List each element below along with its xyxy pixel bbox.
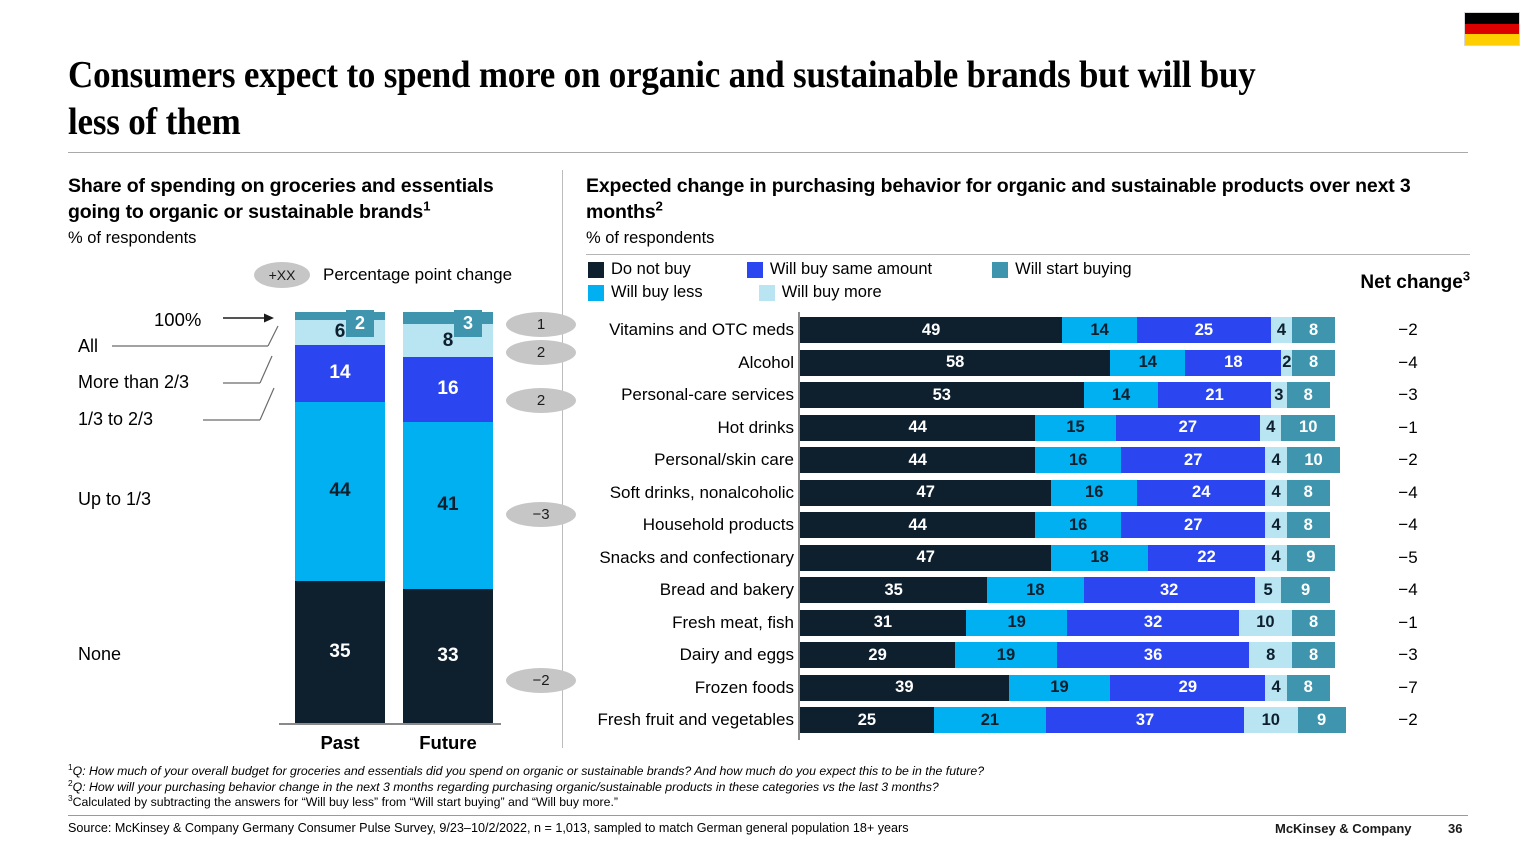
row-label-snacks-and-confectionary: Snacks and confectionary bbox=[586, 542, 794, 575]
segment-snacks-and-confectionary-will-start-buying[interactable]: 9 bbox=[1287, 545, 1335, 571]
chart-legend: Do not buyWill buy same amountWill start… bbox=[588, 260, 1288, 306]
left-category-label-up-to-1-3: Up to 1/3 bbox=[78, 489, 151, 510]
change-pill-0: 1 bbox=[506, 312, 576, 337]
segment-fresh-meat-fish-will-buy-less[interactable]: 19 bbox=[966, 610, 1068, 636]
net-change-value-household-products: −4 bbox=[1346, 509, 1470, 542]
right-heading-superscript: 2 bbox=[656, 198, 663, 213]
footnote-3: 3Calculated by subtracting the answers f… bbox=[68, 795, 1468, 811]
legend-label: Will start buying bbox=[1015, 260, 1131, 279]
segment-personal-skin-care-do-not-buy[interactable]: 44 bbox=[800, 447, 1035, 473]
segment-snacks-and-confectionary-do-not-buy[interactable]: 47 bbox=[800, 545, 1051, 571]
row-bar-vitamins-and-otc-meds: 49142548 bbox=[800, 317, 1335, 343]
row-bar-soft-drinks-nonalcoholic: 47162448 bbox=[800, 480, 1330, 506]
segment-bread-and-bakery-will-buy-more[interactable]: 5 bbox=[1255, 577, 1282, 603]
table-row[interactable]: Personal-care services53142138−3 bbox=[586, 379, 1476, 412]
segment-vitamins-and-otc-meds-do-not-buy[interactable]: 49 bbox=[800, 317, 1062, 343]
segment-vitamins-and-otc-meds-will-start-buying[interactable]: 8 bbox=[1292, 317, 1335, 343]
legend-divider bbox=[586, 254, 1470, 255]
legend-item-will-buy-same-amount[interactable]: Will buy same amount bbox=[747, 260, 932, 279]
right-panel-heading: Expected change in purchasing behavior f… bbox=[586, 174, 1476, 225]
segment-fresh-meat-fish-do-not-buy[interactable]: 31 bbox=[800, 610, 966, 636]
footnote-text: Q: How will your purchasing behavior cha… bbox=[73, 780, 939, 794]
footnotes: 1Q: How much of your overall budget for … bbox=[68, 764, 1468, 811]
net-change-value-soft-drinks-nonalcoholic: −4 bbox=[1346, 477, 1470, 510]
segment-household-products-do-not-buy[interactable]: 44 bbox=[800, 512, 1035, 538]
segment-fresh-meat-fish-will-buy-same-amount[interactable]: 32 bbox=[1067, 610, 1238, 636]
right-chart-rows: Vitamins and OTC meds49142548−2Alcohol58… bbox=[586, 314, 1476, 737]
legend-swatch-icon bbox=[759, 285, 775, 301]
segment-personal-care-services-will-buy-less[interactable]: 14 bbox=[1084, 382, 1159, 408]
net-change-value-dairy-and-eggs: −3 bbox=[1346, 639, 1470, 672]
left-chart-axis bbox=[279, 723, 501, 725]
table-row[interactable]: Soft drinks, nonalcoholic47162448−4 bbox=[586, 477, 1476, 510]
pct-key-label: Percentage point change bbox=[323, 265, 512, 285]
page-number: 36 bbox=[1448, 821, 1462, 836]
change-pill-4: −2 bbox=[506, 668, 576, 693]
net-change-text: Net change bbox=[1360, 272, 1462, 293]
segment-frozen-foods-will-buy-same-amount[interactable]: 29 bbox=[1110, 675, 1265, 701]
left-panel: Share of spending on groceries and essen… bbox=[68, 174, 548, 248]
segment-vitamins-and-otc-meds-will-buy-same-amount[interactable]: 25 bbox=[1137, 317, 1271, 343]
segment-frozen-foods-will-buy-less[interactable]: 19 bbox=[1009, 675, 1111, 701]
row-bar-bread-and-bakery: 35183259 bbox=[800, 577, 1330, 603]
segment-hot-drinks-will-start-buying[interactable]: 10 bbox=[1281, 415, 1335, 441]
left-x-label-past: Past bbox=[295, 732, 385, 754]
segment-fresh-meat-fish-will-start-buying[interactable]: 8 bbox=[1292, 610, 1335, 636]
segment-dairy-and-eggs-do-not-buy[interactable]: 29 bbox=[800, 642, 955, 668]
segment-hot-drinks-do-not-buy[interactable]: 44 bbox=[800, 415, 1035, 441]
right-panel: Expected change in purchasing behavior f… bbox=[586, 174, 1476, 248]
left-category-label-none: None bbox=[78, 644, 121, 665]
row-bar-snacks-and-confectionary: 47182249 bbox=[800, 545, 1335, 571]
segment-snacks-and-confectionary-will-buy-same-amount[interactable]: 22 bbox=[1148, 545, 1266, 571]
segment-hot-drinks-will-buy-same-amount[interactable]: 27 bbox=[1116, 415, 1260, 441]
row-label-alcohol: Alcohol bbox=[586, 347, 794, 380]
segment-frozen-foods-will-buy-more[interactable]: 4 bbox=[1265, 675, 1286, 701]
legend-swatch-icon bbox=[588, 285, 604, 301]
row-label-fresh-fruit-and-vegetables: Fresh fruit and vegetables bbox=[586, 704, 794, 737]
left-panel-heading: Share of spending on groceries and essen… bbox=[68, 174, 548, 225]
legend-swatch-icon bbox=[588, 262, 604, 278]
net-change-header: Net change3 bbox=[1286, 272, 1470, 294]
footnote-text: Calculated by subtracting the answers fo… bbox=[73, 795, 618, 809]
segment-fresh-fruit-and-vegetables-will-buy-same-amount[interactable]: 37 bbox=[1046, 707, 1244, 733]
segment-soft-drinks-nonalcoholic-will-buy-same-amount[interactable]: 24 bbox=[1137, 480, 1265, 506]
segment-hot-drinks-will-buy-more[interactable]: 4 bbox=[1260, 415, 1281, 441]
segment-personal-care-services-will-buy-more[interactable]: 3 bbox=[1271, 382, 1287, 408]
table-row[interactable]: Dairy and eggs29193688−3 bbox=[586, 639, 1476, 672]
axis-note-100-percent: 100% bbox=[154, 309, 201, 331]
german-flag-icon bbox=[1464, 12, 1520, 46]
net-change-value-alcohol: −4 bbox=[1346, 347, 1470, 380]
row-label-fresh-meat-fish: Fresh meat, fish bbox=[586, 607, 794, 640]
left-heading-superscript: 1 bbox=[423, 198, 430, 213]
footnote-2: 2Q: How will your purchasing behavior ch… bbox=[68, 780, 1468, 796]
legend-swatch-icon bbox=[992, 262, 1008, 278]
legend-row-1: Will buy lessWill buy more bbox=[588, 283, 1288, 302]
segment-personal-care-services-do-not-buy[interactable]: 53 bbox=[800, 382, 1084, 408]
segment-bread-and-bakery-do-not-buy[interactable]: 35 bbox=[800, 577, 987, 603]
row-bar-frozen-foods: 39192948 bbox=[800, 675, 1330, 701]
segment-vitamins-and-otc-meds-will-buy-less[interactable]: 14 bbox=[1062, 317, 1137, 343]
left-x-label-future: Future bbox=[403, 732, 493, 754]
segment-alcohol-will-buy-more[interactable]: 2 bbox=[1281, 350, 1292, 376]
segment-bread-and-bakery-will-buy-same-amount[interactable]: 32 bbox=[1084, 577, 1255, 603]
footnote-text: Q: How much of your overall budget for g… bbox=[73, 764, 984, 778]
row-label-soft-drinks-nonalcoholic: Soft drinks, nonalcoholic bbox=[586, 477, 794, 510]
row-label-bread-and-bakery: Bread and bakery bbox=[586, 574, 794, 607]
net-change-value-hot-drinks: −1 bbox=[1346, 412, 1470, 445]
segment-vitamins-and-otc-meds-will-buy-more[interactable]: 4 bbox=[1271, 317, 1292, 343]
segment-alcohol-do-not-buy[interactable]: 58 bbox=[800, 350, 1110, 376]
net-change-value-personal-care-services: −3 bbox=[1346, 379, 1470, 412]
row-bar-alcohol: 58141828 bbox=[800, 350, 1335, 376]
segment-alcohol-will-buy-less[interactable]: 14 bbox=[1110, 350, 1185, 376]
left-segment-future-up-to-1-3[interactable]: 41 bbox=[403, 422, 493, 589]
legend-item-do-not-buy[interactable]: Do not buy bbox=[588, 260, 691, 279]
segment-personal-care-services-will-start-buying[interactable]: 8 bbox=[1287, 382, 1330, 408]
net-change-value-fresh-meat-fish: −1 bbox=[1346, 607, 1470, 640]
row-bar-personal-care-services: 53142138 bbox=[800, 382, 1330, 408]
left-bar-future[interactable]: 3341168 bbox=[403, 312, 493, 723]
segment-personal-skin-care-will-buy-less[interactable]: 16 bbox=[1035, 447, 1121, 473]
segment-fresh-fruit-and-vegetables-will-start-buying[interactable]: 9 bbox=[1298, 707, 1346, 733]
left-category-label-more-than-2-3: More than 2/3 bbox=[78, 372, 189, 393]
change-pill-1: 2 bbox=[506, 340, 576, 365]
left-stacked-bar-chart: 100% All More than 2/3 1/3 to 2/3 Up to … bbox=[68, 304, 548, 764]
segment-soft-drinks-nonalcoholic-will-start-buying[interactable]: 8 bbox=[1287, 480, 1330, 506]
segment-dairy-and-eggs-will-start-buying[interactable]: 8 bbox=[1292, 642, 1335, 668]
row-bar-fresh-fruit-and-vegetables: 252137109 bbox=[800, 707, 1346, 733]
row-label-vitamins-and-otc-meds: Vitamins and OTC meds bbox=[586, 314, 794, 347]
table-row[interactable]: Fresh meat, fish311932108−1 bbox=[586, 607, 1476, 640]
left-segment-past-up-to-1-3[interactable]: 44 bbox=[295, 402, 385, 581]
title-divider bbox=[68, 152, 1468, 153]
row-bar-fresh-meat-fish: 311932108 bbox=[800, 610, 1335, 636]
net-change-value-snacks-and-confectionary: −5 bbox=[1346, 542, 1470, 575]
row-label-dairy-and-eggs: Dairy and eggs bbox=[586, 639, 794, 672]
footer-divider bbox=[68, 815, 1468, 816]
flag-band-red bbox=[1465, 24, 1519, 35]
left-segment-future-none[interactable]: 33 bbox=[403, 589, 493, 723]
row-label-personal-care-services: Personal-care services bbox=[586, 379, 794, 412]
segment-dairy-and-eggs-will-buy-more[interactable]: 8 bbox=[1249, 642, 1292, 668]
legend-item-will-buy-more[interactable]: Will buy more bbox=[759, 283, 882, 302]
change-pill-3: −3 bbox=[506, 502, 576, 527]
row-bar-dairy-and-eggs: 29193688 bbox=[800, 642, 1335, 668]
net-change-value-fresh-fruit-and-vegetables: −2 bbox=[1346, 704, 1470, 737]
change-pill-2: 2 bbox=[506, 388, 576, 413]
table-row[interactable]: Alcohol58141828−4 bbox=[586, 347, 1476, 380]
segment-fresh-fruit-and-vegetables-will-buy-less[interactable]: 21 bbox=[934, 707, 1046, 733]
panel-divider bbox=[562, 170, 563, 748]
segment-household-products-will-buy-same-amount[interactable]: 27 bbox=[1121, 512, 1265, 538]
left-panel-subheading: % of respondents bbox=[68, 228, 548, 248]
segment-soft-drinks-nonalcoholic-do-not-buy[interactable]: 47 bbox=[800, 480, 1051, 506]
left-bar-past[interactable]: 3544146 bbox=[295, 312, 385, 723]
row-bar-personal-skin-care: 441627410 bbox=[800, 447, 1340, 473]
segment-dairy-and-eggs-will-buy-less[interactable]: 19 bbox=[955, 642, 1057, 668]
net-change-value-bread-and-bakery: −4 bbox=[1346, 574, 1470, 607]
leader-lines bbox=[68, 304, 328, 504]
table-row[interactable]: Household products44162748−4 bbox=[586, 509, 1476, 542]
net-change-value-personal-skin-care: −2 bbox=[1346, 444, 1470, 477]
footnote-1: 1Q: How much of your overall budget for … bbox=[68, 764, 1468, 780]
segment-fresh-fruit-and-vegetables-will-buy-more[interactable]: 10 bbox=[1244, 707, 1298, 733]
segment-hot-drinks-will-buy-less[interactable]: 15 bbox=[1035, 415, 1115, 441]
pct-key-pill: +XX bbox=[254, 262, 310, 288]
left-callout-past-all: 2 bbox=[346, 310, 374, 337]
left-segment-past-none[interactable]: 35 bbox=[295, 581, 385, 723]
segment-personal-care-services-will-buy-same-amount[interactable]: 21 bbox=[1158, 382, 1270, 408]
table-row[interactable]: Bread and bakery35183259−4 bbox=[586, 574, 1476, 607]
legend-label: Will buy more bbox=[782, 283, 882, 302]
left-category-label-1-3-to-2-3: 1/3 to 2/3 bbox=[78, 409, 153, 430]
segment-household-products-will-start-buying[interactable]: 8 bbox=[1287, 512, 1330, 538]
right-heading-text: Expected change in purchasing behavior f… bbox=[586, 175, 1411, 223]
brand-label: McKinsey & Company bbox=[1275, 821, 1412, 836]
segment-personal-skin-care-will-buy-same-amount[interactable]: 27 bbox=[1121, 447, 1265, 473]
segment-snacks-and-confectionary-will-buy-less[interactable]: 18 bbox=[1051, 545, 1147, 571]
segment-fresh-meat-fish-will-buy-more[interactable]: 10 bbox=[1239, 610, 1293, 636]
table-row[interactable]: Frozen foods39192948−7 bbox=[586, 672, 1476, 705]
segment-personal-skin-care-will-buy-more[interactable]: 4 bbox=[1265, 447, 1286, 473]
table-row[interactable]: Snacks and confectionary47182249−5 bbox=[586, 542, 1476, 575]
segment-dairy-and-eggs-will-buy-same-amount[interactable]: 36 bbox=[1057, 642, 1250, 668]
segment-household-products-will-buy-less[interactable]: 16 bbox=[1035, 512, 1121, 538]
left-segment-past-1-3-to-2-3[interactable]: 14 bbox=[295, 345, 385, 402]
segment-bread-and-bakery-will-start-buying[interactable]: 9 bbox=[1281, 577, 1329, 603]
segment-household-products-will-buy-more[interactable]: 4 bbox=[1265, 512, 1286, 538]
slide-root: Consumers expect to spend more on organi… bbox=[0, 0, 1536, 864]
segment-soft-drinks-nonalcoholic-will-buy-less[interactable]: 16 bbox=[1051, 480, 1137, 506]
net-change-value-vitamins-and-otc-meds: −2 bbox=[1346, 314, 1470, 347]
percentage-point-change-key: +XX Percentage point change bbox=[254, 262, 512, 288]
row-label-hot-drinks: Hot drinks bbox=[586, 412, 794, 445]
source-line: Source: McKinsey & Company Germany Consu… bbox=[68, 821, 909, 835]
row-label-personal-skin-care: Personal/skin care bbox=[586, 444, 794, 477]
table-row[interactable]: Hot drinks441527410−1 bbox=[586, 412, 1476, 445]
flag-band-black bbox=[1465, 13, 1519, 24]
legend-label: Will buy less bbox=[611, 283, 703, 302]
segment-soft-drinks-nonalcoholic-will-buy-more[interactable]: 4 bbox=[1265, 480, 1286, 506]
table-row[interactable]: Vitamins and OTC meds49142548−2 bbox=[586, 314, 1476, 347]
legend-row-0: Do not buyWill buy same amountWill start… bbox=[588, 260, 1288, 279]
table-row[interactable]: Personal/skin care441627410−2 bbox=[586, 444, 1476, 477]
net-change-superscript: 3 bbox=[1463, 269, 1470, 284]
flag-band-gold bbox=[1465, 34, 1519, 45]
legend-item-will-buy-less[interactable]: Will buy less bbox=[588, 283, 703, 302]
slide-title: Consumers expect to spend more on organi… bbox=[68, 52, 1292, 146]
left-callout-future-all: 3 bbox=[454, 310, 482, 337]
table-row[interactable]: Fresh fruit and vegetables252137109−2 bbox=[586, 704, 1476, 737]
right-panel-subheading: % of respondents bbox=[586, 228, 1476, 248]
segment-frozen-foods-do-not-buy[interactable]: 39 bbox=[800, 675, 1009, 701]
left-segment-future-1-3-to-2-3[interactable]: 16 bbox=[403, 357, 493, 422]
segment-frozen-foods-will-start-buying[interactable]: 8 bbox=[1287, 675, 1330, 701]
segment-alcohol-will-start-buying[interactable]: 8 bbox=[1292, 350, 1335, 376]
legend-swatch-icon bbox=[747, 262, 763, 278]
row-bar-hot-drinks: 441527410 bbox=[800, 415, 1335, 441]
segment-fresh-fruit-and-vegetables-do-not-buy[interactable]: 25 bbox=[800, 707, 934, 733]
row-label-frozen-foods: Frozen foods bbox=[586, 672, 794, 705]
net-change-value-frozen-foods: −7 bbox=[1346, 672, 1470, 705]
row-bar-household-products: 44162748 bbox=[800, 512, 1330, 538]
legend-label: Will buy same amount bbox=[770, 260, 932, 279]
legend-label: Do not buy bbox=[611, 260, 691, 279]
segment-alcohol-will-buy-same-amount[interactable]: 18 bbox=[1185, 350, 1281, 376]
segment-snacks-and-confectionary-will-buy-more[interactable]: 4 bbox=[1265, 545, 1286, 571]
legend-item-will-start-buying[interactable]: Will start buying bbox=[992, 260, 1131, 279]
segment-personal-skin-care-will-start-buying[interactable]: 10 bbox=[1287, 447, 1341, 473]
segment-bread-and-bakery-will-buy-less[interactable]: 18 bbox=[987, 577, 1083, 603]
left-category-label-all: All bbox=[78, 336, 98, 357]
row-label-household-products: Household products bbox=[586, 509, 794, 542]
